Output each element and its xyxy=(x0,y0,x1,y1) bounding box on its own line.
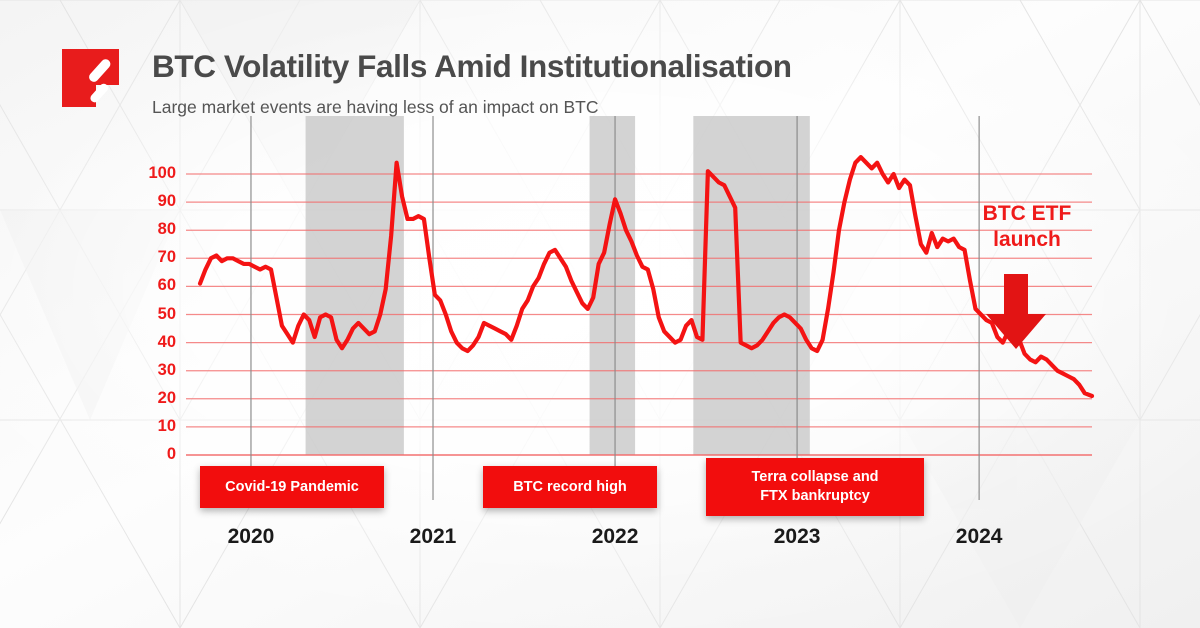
y-axis-tick-label: 40 xyxy=(134,333,176,352)
x-axis-tick-label: 2021 xyxy=(378,525,488,549)
shaded-band xyxy=(693,116,810,455)
page-title: BTC Volatility Falls Amid Institutionali… xyxy=(152,48,792,85)
event-callout-label: BTC record high xyxy=(513,478,627,497)
event-callout-box: BTC record high xyxy=(483,466,657,508)
page-subtitle: Large market events are having less of a… xyxy=(152,97,598,118)
event-callout-label: Covid-19 Pandemic xyxy=(225,478,359,497)
chart-shaded-bands xyxy=(306,116,810,455)
y-axis-tick-label: 0 xyxy=(134,445,176,464)
y-axis-tick-label: 60 xyxy=(134,276,176,295)
shaded-band xyxy=(306,116,404,455)
event-callout-label: FTX bankruptcy xyxy=(751,487,878,506)
x-axis-tick-label: 2024 xyxy=(924,525,1034,549)
y-axis-tick-label: 30 xyxy=(134,361,176,380)
x-axis-tick-label: 2020 xyxy=(196,525,306,549)
y-axis-tick-label: 100 xyxy=(134,164,176,183)
y-axis-tick-label: 50 xyxy=(134,305,176,324)
y-axis-tick-label: 90 xyxy=(134,192,176,211)
event-callout-box: Terra collapse andFTX bankruptcy xyxy=(706,458,924,516)
y-axis-tick-label: 70 xyxy=(134,248,176,267)
y-axis-tick-label: 10 xyxy=(134,417,176,436)
x-axis-tick-label: 2023 xyxy=(742,525,852,549)
event-callout-box: Covid-19 Pandemic xyxy=(200,466,384,508)
fxstreet-logo-icon xyxy=(62,49,119,107)
y-axis-tick-label: 20 xyxy=(134,389,176,408)
y-axis-tick-label: 80 xyxy=(134,220,176,239)
down-arrow-icon xyxy=(985,274,1047,350)
x-axis-tick-label: 2022 xyxy=(560,525,670,549)
infographic-canvas: BTC Volatility Falls Amid Institutionali… xyxy=(0,0,1200,628)
event-callout-label: Terra collapse and xyxy=(751,468,878,487)
